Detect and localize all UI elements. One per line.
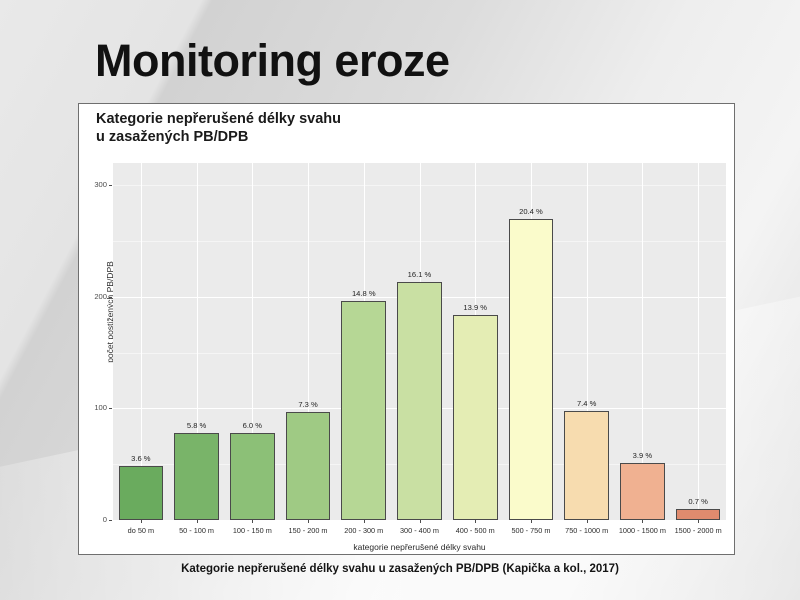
x-tick-label: 1000 - 1500 m <box>615 526 671 535</box>
y-tick-mark <box>109 297 112 298</box>
x-tick-label: 50 - 100 m <box>169 526 225 535</box>
bar <box>564 411 609 520</box>
figure-caption: Kategorie nepřerušené délky svahu u zasa… <box>0 563 800 575</box>
x-tick-label: 200 - 300 m <box>336 526 392 535</box>
y-tick-mark <box>109 408 112 409</box>
bar <box>509 219 554 520</box>
x-tick-label: 750 - 1000 m <box>559 526 615 535</box>
x-tick-label: 300 - 400 m <box>392 526 448 535</box>
x-tick-mark <box>308 520 309 523</box>
bar <box>620 463 665 520</box>
bar <box>676 509 721 520</box>
chart-frame: Kategorie nepřerušené délky svahu u zasa… <box>78 103 735 555</box>
x-tick-mark <box>642 520 643 523</box>
bar <box>286 412 331 520</box>
bar-value-label: 13.9 % <box>447 303 503 312</box>
x-tick-label: 100 - 150 m <box>224 526 280 535</box>
x-tick-mark <box>197 520 198 523</box>
x-axis-label: kategorie nepřerušené délky svahu <box>113 542 726 552</box>
x-tick-mark <box>698 520 699 523</box>
bar <box>397 282 442 520</box>
x-tick-label: 1500 - 2000 m <box>670 526 726 535</box>
x-tick-mark <box>364 520 365 523</box>
x-tick-mark <box>141 520 142 523</box>
x-tick-label: 150 - 200 m <box>280 526 336 535</box>
bar-value-label: 5.8 % <box>169 421 225 430</box>
bar <box>230 433 275 520</box>
y-tick-label: 300 <box>79 180 107 189</box>
bar <box>119 466 164 520</box>
x-tick-label: do 50 m <box>113 526 169 535</box>
y-tick-label: 100 <box>79 403 107 412</box>
bar-value-label: 3.6 % <box>113 454 169 463</box>
x-tick-mark <box>252 520 253 523</box>
x-tick-label: 500 - 750 m <box>503 526 559 535</box>
bar-value-label: 16.1 % <box>392 270 448 279</box>
x-tick-mark <box>475 520 476 523</box>
bar-value-label: 7.3 % <box>280 400 336 409</box>
plot-area: počet postižených PB/DPB 3.6 %5.8 %6.0 %… <box>79 157 736 554</box>
x-tick-mark <box>587 520 588 523</box>
y-tick-mark <box>109 185 112 186</box>
bar <box>341 301 386 520</box>
bar-value-label: 3.9 % <box>615 451 671 460</box>
page-title: Monitoring eroze <box>95 38 449 83</box>
x-tick-mark <box>531 520 532 523</box>
bar <box>453 315 498 520</box>
x-tick-mark <box>420 520 421 523</box>
slide: Monitoring eroze Kategorie nepřerušené d… <box>0 0 800 600</box>
bar <box>174 433 219 520</box>
x-tick-label: 400 - 500 m <box>447 526 503 535</box>
plot-panel: 3.6 %5.8 %6.0 %7.3 %14.8 %16.1 %13.9 %20… <box>113 163 726 520</box>
bar-value-label: 6.0 % <box>224 421 280 430</box>
bar-value-label: 0.7 % <box>670 497 726 506</box>
bar-value-label: 20.4 % <box>503 207 559 216</box>
chart-heading: Kategorie nepřerušené délky svahu u zasa… <box>96 111 341 146</box>
bar-value-label: 7.4 % <box>559 399 615 408</box>
gridline-vertical <box>698 163 699 520</box>
y-tick-label: 0 <box>79 515 107 524</box>
y-tick-label: 200 <box>79 292 107 301</box>
y-tick-mark <box>109 520 112 521</box>
bar-value-label: 14.8 % <box>336 289 392 298</box>
